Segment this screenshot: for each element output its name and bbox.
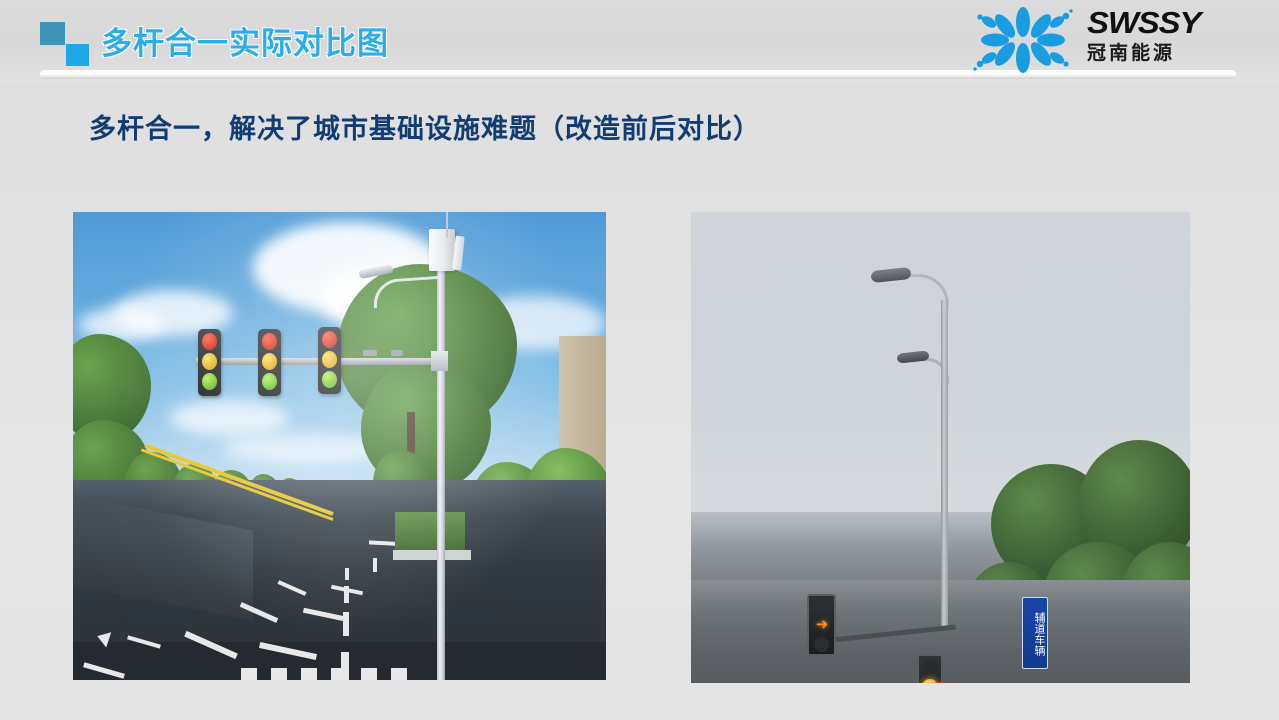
- lane-marking: [344, 586, 349, 603]
- cloud: [169, 400, 289, 436]
- traffic-light-red: [262, 333, 277, 350]
- traffic-light-dark-lamp: [923, 660, 937, 674]
- equipment-cabinet: [429, 229, 455, 271]
- antenna-whip-icon: [446, 212, 448, 238]
- traffic-light-red: [322, 331, 337, 348]
- right-turn-arrow-icon: ➜: [813, 618, 831, 632]
- median-kerb: [393, 550, 471, 560]
- crosswalk-stripe: [391, 668, 407, 680]
- crosswalk-stripe: [331, 668, 347, 680]
- multifunction-pole: [437, 256, 445, 680]
- lane-marking: [373, 558, 377, 572]
- median-planting: [395, 512, 465, 554]
- surveillance-camera-icon: [391, 350, 403, 356]
- figure-photo-before: ➜ 辅道车辆 华夏中路 老科路 ↑ ⚐: [691, 212, 1190, 683]
- surveillance-camera-icon: [363, 350, 377, 356]
- traffic-light-amber-signal: [917, 654, 943, 683]
- crosswalk-stripe: [301, 668, 317, 680]
- traffic-light-dark-lamp: [814, 600, 829, 615]
- header-decoration: [40, 22, 96, 66]
- traffic-light-green: [322, 371, 337, 388]
- traffic-light-3: [318, 327, 341, 394]
- lane-marking: [343, 612, 349, 636]
- pole-arm-joint: [431, 351, 448, 371]
- logo-wordmark: SWSSY: [1087, 6, 1238, 40]
- logo-company-name: 冠南能源: [1087, 41, 1229, 67]
- slide-subtitle: 多杆合一，解决了城市基础设施难题（改造前后对比）: [89, 107, 761, 146]
- decoration-square-light: [66, 44, 89, 66]
- logo-text-block: SWSSY 冠南能源: [1087, 6, 1229, 67]
- page-title: 多杆合一实际对比图: [101, 18, 389, 63]
- traffic-light-red: [202, 333, 217, 350]
- vertical-road-sign: 辅道车辆: [1022, 597, 1048, 669]
- traffic-light-2: [258, 329, 281, 396]
- figure-render-after: [73, 212, 606, 680]
- lane-marking: [345, 568, 349, 580]
- slide-header: 多杆合一实际对比图: [0, 0, 1279, 82]
- traffic-light-arrow-signal: ➜: [807, 594, 836, 656]
- crosswalk-stripe: [241, 668, 257, 680]
- traffic-light-green: [262, 373, 277, 390]
- traffic-light-yellow: [262, 353, 277, 370]
- crosswalk-stripe: [361, 668, 377, 680]
- traffic-light-yellow: [202, 353, 217, 370]
- water-droplet-logo-icon: [969, 6, 1077, 74]
- company-logo: SWSSY 冠南能源: [969, 4, 1229, 76]
- traffic-light-yellow: [322, 351, 337, 368]
- street-lamp-pole: [941, 300, 948, 630]
- traffic-light-1: [198, 329, 221, 396]
- decoration-square-dark: [40, 22, 65, 45]
- crosswalk-stripe: [271, 668, 287, 680]
- traffic-light-green: [202, 373, 217, 390]
- traffic-light-dark-lamp: [814, 637, 829, 652]
